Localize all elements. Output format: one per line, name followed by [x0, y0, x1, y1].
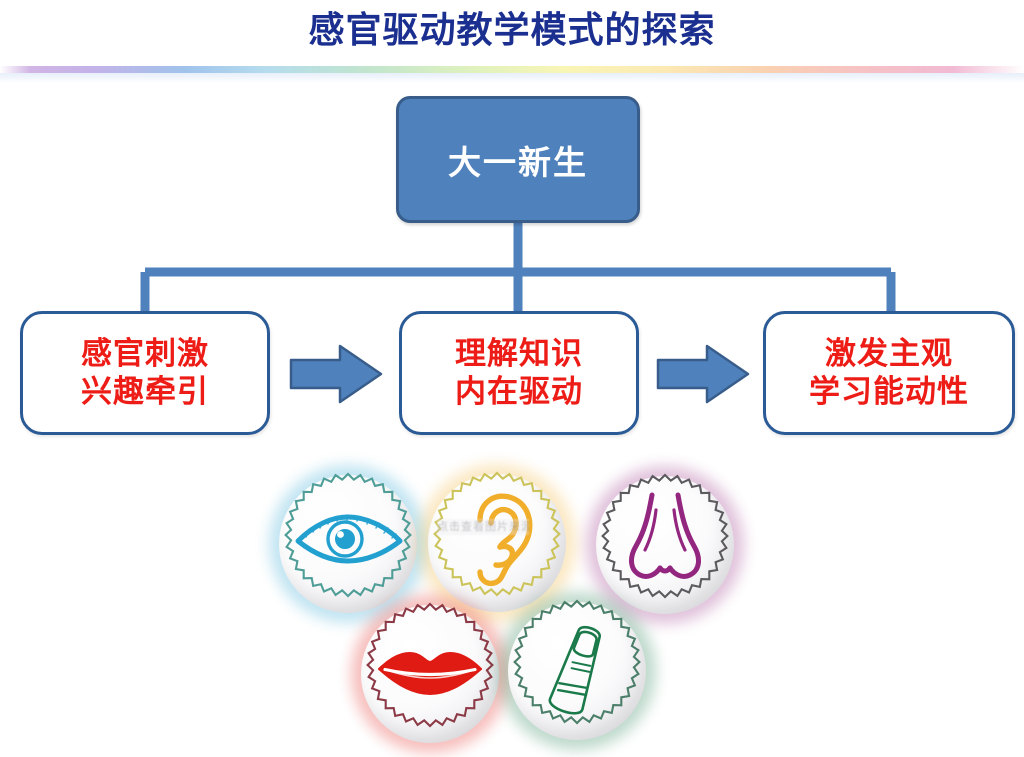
- finger-icon: [502, 596, 652, 746]
- arrow-middle-to-right: [658, 346, 748, 402]
- node-knowledge-understanding[interactable]: 理解知识 内在驱动: [399, 311, 639, 435]
- node-sensory-stimulation[interactable]: 感官刺激 兴趣牵引: [20, 311, 270, 435]
- node-left-line2: 兴趣牵引: [81, 373, 209, 411]
- node-root[interactable]: 大一新生: [396, 96, 640, 223]
- eye-icon: [273, 469, 423, 619]
- node-right-line2: 学习能动性: [809, 373, 969, 411]
- node-learning-initiative[interactable]: 激发主观 学习能动性: [763, 311, 1015, 435]
- node-middle-line2: 内在驱动: [455, 373, 583, 411]
- sense-badge-taste: [355, 599, 505, 749]
- node-root-label: 大一新生: [448, 136, 588, 184]
- slide-canvas: 感官驱动教学模式的探索 大一新生 感官刺激 兴趣牵引 理解知识 内在驱动 激发主…: [0, 0, 1024, 757]
- sense-badge-touch: [502, 596, 652, 746]
- rainbow-divider: [0, 66, 1024, 73]
- image-watermark: 点击查看图片来源: [437, 519, 529, 535]
- node-right-line1: 激发主观: [825, 335, 953, 373]
- arrow-left-to-middle: [291, 346, 381, 402]
- rainbow-divider-glow: [0, 73, 1024, 83]
- sense-badge-sight: [273, 469, 423, 619]
- node-middle-line1: 理解知识: [455, 335, 583, 373]
- lips-icon: [355, 599, 505, 749]
- page-title: 感官驱动教学模式的探索: [0, 6, 1024, 54]
- node-left-line1: 感官刺激: [81, 335, 209, 373]
